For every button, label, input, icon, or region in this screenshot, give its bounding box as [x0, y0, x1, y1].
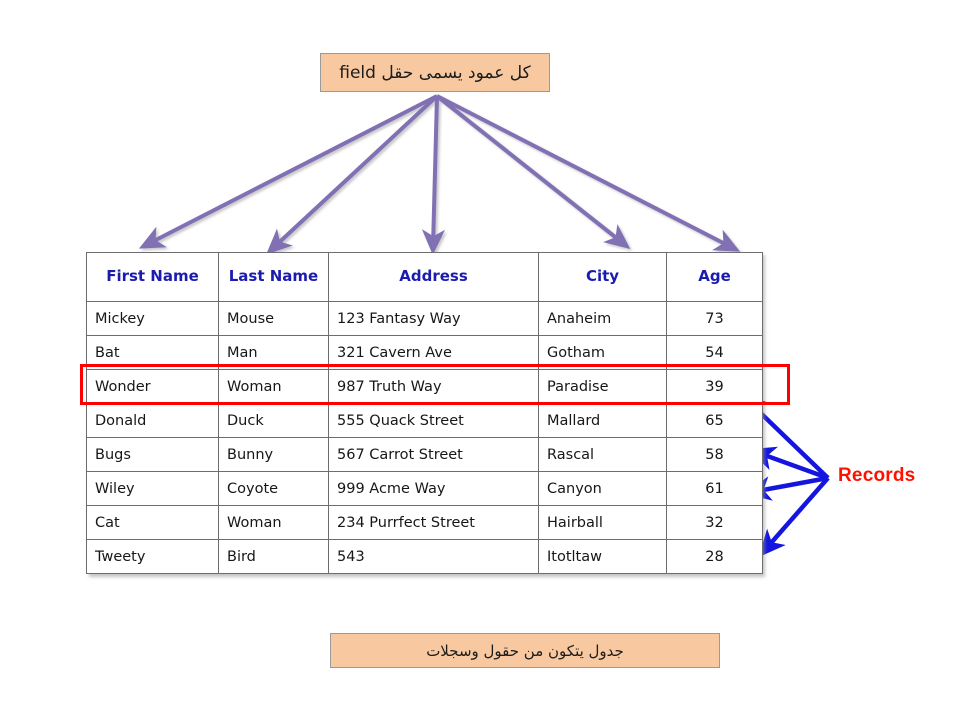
cell-address: 543 [329, 540, 539, 574]
cell-city: Itotltaw [539, 540, 667, 574]
cell-address: 999 Acme Way [329, 472, 539, 506]
cell-address: 987 Truth Way [329, 370, 539, 404]
cell-first-name: Cat [87, 506, 219, 540]
cell-first-name: Wiley [87, 472, 219, 506]
field-arrow-city [437, 96, 624, 244]
database-table: First Name Last Name Address City Age Mi… [86, 252, 763, 574]
field-arrow-age [437, 96, 733, 248]
cell-age: 39 [667, 370, 763, 404]
column-header-city[interactable]: City [539, 253, 667, 302]
cell-age: 54 [667, 336, 763, 370]
records-label: Records [838, 465, 915, 487]
record-arrow-3 [752, 478, 828, 492]
cell-city: Canyon [539, 472, 667, 506]
table-row[interactable]: Cat Woman 234 Purrfect Street Hairball 3… [87, 506, 763, 540]
cell-age: 32 [667, 506, 763, 540]
cell-address: 555 Quack Street [329, 404, 539, 438]
cell-last-name: Duck [219, 404, 329, 438]
cell-last-name: Bird [219, 540, 329, 574]
cell-age: 28 [667, 540, 763, 574]
field-arrow-address [433, 96, 437, 247]
cell-age: 65 [667, 404, 763, 438]
record-arrow-2 [756, 452, 828, 478]
cell-city: Hairball [539, 506, 667, 540]
table-row[interactable]: Tweety Bird 543 Itotltaw 28 [87, 540, 763, 574]
table-definition-callout-text: جدول يتكون من حقول وسجلات [426, 642, 624, 660]
table-row[interactable]: Donald Duck 555 Quack Street Mallard 65 [87, 404, 763, 438]
cell-city: Mallard [539, 404, 667, 438]
table-row[interactable]: Wiley Coyote 999 Acme Way Canyon 61 [87, 472, 763, 506]
cell-city: Rascal [539, 438, 667, 472]
cell-last-name: Coyote [219, 472, 329, 506]
field-arrow-last-name [272, 96, 437, 249]
cell-address: 234 Purrfect Street [329, 506, 539, 540]
record-arrow-4 [764, 478, 828, 551]
cell-age: 58 [667, 438, 763, 472]
cell-age: 73 [667, 302, 763, 336]
cell-city: Gotham [539, 336, 667, 370]
database-table-container: First Name Last Name Address City Age Mi… [86, 252, 762, 574]
cell-address: 123 Fantasy Way [329, 302, 539, 336]
cell-last-name: Bunny [219, 438, 329, 472]
table-body: Mickey Mouse 123 Fantasy Way Anaheim 73 … [87, 302, 763, 574]
cell-last-name: Woman [219, 506, 329, 540]
table-row[interactable]: Bat Man 321 Cavern Ave Gotham 54 [87, 336, 763, 370]
cell-address: 321 Cavern Ave [329, 336, 539, 370]
slide-canvas: كل عمود يسمى حقل field [0, 0, 960, 720]
field-callout-box: كل عمود يسمى حقل field [320, 53, 550, 92]
cell-age: 61 [667, 472, 763, 506]
cell-last-name: Man [219, 336, 329, 370]
cell-first-name: Wonder [87, 370, 219, 404]
cell-city: Paradise [539, 370, 667, 404]
cell-city: Anaheim [539, 302, 667, 336]
cell-first-name: Mickey [87, 302, 219, 336]
field-callout-text: كل عمود يسمى حقل field [339, 63, 530, 83]
cell-first-name: Tweety [87, 540, 219, 574]
cell-first-name: Donald [87, 404, 219, 438]
cell-first-name: Bugs [87, 438, 219, 472]
table-row[interactable]: Bugs Bunny 567 Carrot Street Rascal 58 [87, 438, 763, 472]
table-header: First Name Last Name Address City Age [87, 253, 763, 302]
cell-address: 567 Carrot Street [329, 438, 539, 472]
cell-last-name: Mouse [219, 302, 329, 336]
column-header-last-name[interactable]: Last Name [219, 253, 329, 302]
table-row[interactable]: Mickey Mouse 123 Fantasy Way Anaheim 73 [87, 302, 763, 336]
field-arrow-group [146, 96, 733, 249]
cell-last-name: Woman [219, 370, 329, 404]
column-header-first-name[interactable]: First Name [87, 253, 219, 302]
table-definition-callout-box: جدول يتكون من حقول وسجلات [330, 633, 720, 668]
column-header-age[interactable]: Age [667, 253, 763, 302]
field-arrow-first-name [146, 96, 437, 245]
cell-first-name: Bat [87, 336, 219, 370]
table-row-highlighted[interactable]: Wonder Woman 987 Truth Way Paradise 39 [87, 370, 763, 404]
column-header-address[interactable]: Address [329, 253, 539, 302]
table-header-row: First Name Last Name Address City Age [87, 253, 763, 302]
